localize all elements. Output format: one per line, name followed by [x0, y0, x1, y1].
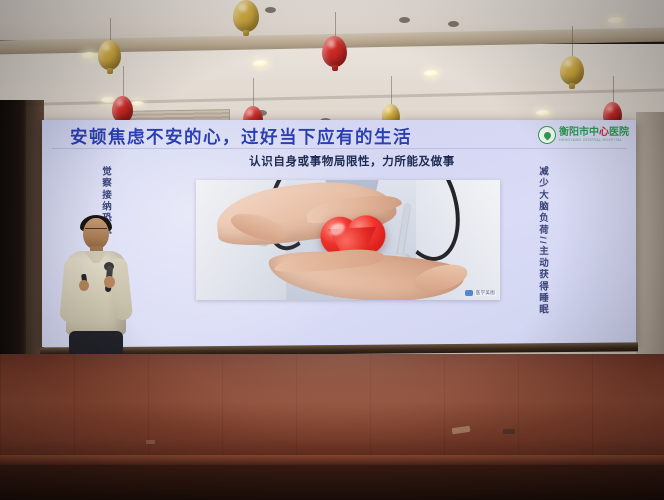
balloon-gloss [103, 44, 110, 51]
presenter-right-hand [104, 276, 115, 288]
right-wall [636, 112, 664, 360]
lecture-hall-scene: 安顿焦虑不安的心，过好当下应有的生活 认识自身或事物局限性，力所能及做事 衡阳市… [0, 0, 664, 500]
heart-leaf-icon [538, 126, 556, 144]
slide-photo-hands-heart: 医学美图 [196, 180, 500, 300]
slide-title: 安顿焦虑不安的心，过好当下应有的生活 [70, 124, 560, 149]
balloon-gloss [247, 110, 253, 116]
balloon-gold-1 [233, 0, 259, 32]
balloon-string [572, 26, 573, 56]
stage-floor [0, 354, 664, 460]
balloon-string [335, 12, 336, 36]
balloon-red-2 [112, 96, 133, 123]
balloon-string [613, 76, 614, 102]
balloon-gloss [565, 60, 572, 67]
ceiling-light-3 [253, 60, 269, 67]
floor-debris-2 [503, 429, 515, 434]
balloon-gloss [328, 40, 336, 47]
ceiling-light-2 [82, 52, 97, 59]
hospital-name-part2: 医院 [609, 127, 629, 138]
hospital-logo: 衡阳市中心医院 HENGYANG CENTRAL HOSPITAL [538, 125, 629, 145]
balloon-gold-2 [98, 40, 121, 70]
watermark-text: 医学美图 [475, 290, 496, 296]
balloon-body [322, 36, 347, 67]
balloon-string [123, 66, 124, 96]
ceiling-speaker-1 [265, 7, 276, 13]
presenter-glasses-icon [85, 228, 107, 234]
photo-watermark: 医学美图 [465, 290, 496, 296]
ceiling-light-5 [536, 110, 550, 116]
floor-debris-3 [146, 440, 155, 444]
ceiling-speaker-2 [448, 21, 459, 27]
ceiling-light-1 [608, 17, 624, 24]
slide-right-vertical-text: 减少大脑负荷//主动获得睡眠 [537, 166, 547, 316]
hospital-name-cn: 衡阳市中心医院 [559, 128, 629, 138]
left-wall-shadow [0, 100, 26, 370]
hospital-name-en: HENGYANG CENTRAL HOSPITAL [559, 139, 629, 142]
left-pillar [24, 100, 44, 358]
balloon-body [560, 56, 584, 85]
balloon-red-1 [322, 36, 347, 67]
ceiling-speaker-3 [399, 17, 410, 23]
hospital-name-highlight: 心 [599, 127, 609, 138]
balloon-string [253, 78, 254, 106]
slide-subtitle: 认识自身或事物局限性，力所能及做事 [187, 153, 517, 169]
balloon-body [233, 0, 259, 32]
stage-apron-shadow [0, 465, 664, 500]
balloon-gloss [607, 106, 613, 112]
balloon-body [98, 40, 121, 70]
balloon-gloss [386, 107, 391, 113]
balloon-gloss [117, 100, 123, 106]
balloon-string [110, 18, 111, 40]
balloon-body [112, 96, 133, 123]
watermark-icon [465, 290, 473, 296]
balloon-string [391, 76, 392, 104]
ceiling-light-4 [424, 70, 439, 77]
balloon-gloss [239, 4, 247, 12]
balloon-gold-3 [560, 56, 584, 85]
hospital-name-part1: 衡阳市中 [559, 127, 599, 138]
presenter-left-hand [79, 280, 89, 291]
